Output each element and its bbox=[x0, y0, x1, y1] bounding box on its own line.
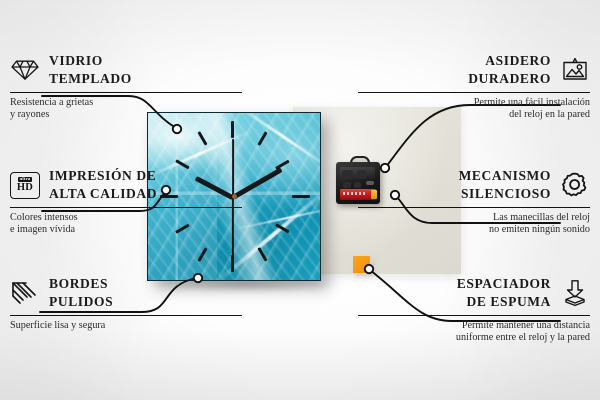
hour-tick bbox=[231, 121, 234, 138]
hour-tick bbox=[292, 195, 310, 198]
feature-bordes-pulidos: BORDES PULIDOS Superficie lisa y segura bbox=[10, 275, 242, 332]
feature-title-line1: ESPACIADOR bbox=[457, 276, 551, 291]
feature-rule bbox=[10, 315, 242, 316]
feature-subtitle-line1: Permite mantener una distancia bbox=[462, 320, 590, 331]
feature-title-line2: DURADERO bbox=[468, 71, 551, 86]
feature-rule bbox=[10, 92, 242, 93]
feature-rule bbox=[358, 92, 590, 93]
feature-heading: BORDES PULIDOS bbox=[10, 275, 242, 311]
feature-title: BORDES PULIDOS bbox=[49, 275, 113, 311]
feature-heading: MECANISMO SILENCIOSO bbox=[358, 167, 590, 203]
feature-subtitle-line1: Resistencia a grietas bbox=[10, 97, 93, 108]
feature-subtitle-line2: e imagen vívida bbox=[10, 224, 75, 235]
feature-rule bbox=[10, 207, 242, 208]
feature-rule bbox=[358, 315, 590, 316]
feature-subtitle-line2: y rayones bbox=[10, 109, 49, 120]
press-down-arrow-icon bbox=[560, 278, 590, 308]
feature-subtitle: Resistencia a grietas y rayones bbox=[10, 97, 242, 121]
feature-subtitle: Las manecillas del reloj no emiten ningú… bbox=[358, 212, 590, 236]
feature-title: ASIDERO DURADERO bbox=[468, 52, 551, 88]
gear-icon bbox=[560, 170, 590, 200]
feature-title: ESPACIADOR DE ESPUMA bbox=[457, 275, 551, 311]
feature-title-line2: TEMPLADO bbox=[49, 71, 132, 86]
feature-espaciador-de-espuma: ESPACIADOR DE ESPUMA Permite mantener un… bbox=[358, 275, 590, 344]
feature-title-line2: DE ESPUMA bbox=[466, 294, 551, 309]
ultra-hd-large-label: HD bbox=[17, 183, 33, 194]
infographic-canvas: VIDRIO TEMPLADO Resistencia a grietas y … bbox=[0, 0, 600, 400]
feature-subtitle-line2: no emiten ningún sonido bbox=[489, 224, 590, 235]
feature-title: IMPRESIÓN DE ALTA CALIDAD bbox=[49, 167, 157, 203]
feature-title-line1: IMPRESIÓN DE bbox=[49, 168, 156, 183]
feature-heading: ESPACIADOR DE ESPUMA bbox=[358, 275, 590, 311]
feature-title: MECANISMO SILENCIOSO bbox=[459, 167, 551, 203]
feature-heading: ultra HD IMPRESIÓN DE ALTA CALIDAD bbox=[10, 167, 242, 203]
feature-title-line1: VIDRIO bbox=[49, 53, 103, 68]
feature-subtitle-line1: Permite una fácil instalación bbox=[474, 97, 590, 108]
feature-title-line1: ASIDERO bbox=[485, 53, 551, 68]
feature-subtitle: Permite una fácil instalación del reloj … bbox=[358, 97, 590, 121]
feature-title-line2: ALTA CALIDAD bbox=[49, 186, 157, 201]
feature-impresion-alta-calidad: ultra HD IMPRESIÓN DE ALTA CALIDAD Color… bbox=[10, 167, 242, 236]
feature-title-line2: PULIDOS bbox=[49, 294, 113, 309]
diamond-icon bbox=[10, 55, 40, 85]
feature-subtitle: Superficie lisa y segura bbox=[10, 320, 242, 332]
feature-subtitle-line1: Las manecillas del reloj bbox=[493, 212, 590, 223]
feature-mecanismo-silencioso: MECANISMO SILENCIOSO Las manecillas del … bbox=[358, 167, 590, 236]
feature-title-line2: SILENCIOSO bbox=[461, 186, 551, 201]
feature-asidero-duradero: ASIDERO DURADERO Permite una fácil insta… bbox=[358, 52, 590, 121]
ultra-hd-icon: ultra HD bbox=[10, 170, 40, 200]
feature-subtitle: Permite mantener una distancia uniforme … bbox=[358, 320, 590, 344]
feature-title-line1: MECANISMO bbox=[459, 168, 551, 183]
feature-heading: VIDRIO TEMPLADO bbox=[10, 52, 242, 88]
feature-vidrio-templado: VIDRIO TEMPLADO Resistencia a grietas y … bbox=[10, 52, 242, 121]
feature-subtitle-line2: uniforme entre el reloj y la pared bbox=[456, 332, 590, 343]
feature-rule bbox=[358, 207, 590, 208]
feature-heading: ASIDERO DURADERO bbox=[358, 52, 590, 88]
feature-title-line1: BORDES bbox=[49, 276, 108, 291]
foam-spacer bbox=[353, 256, 370, 273]
framed-picture-icon bbox=[560, 55, 590, 85]
feature-subtitle-line1: Colores intensos bbox=[10, 212, 78, 223]
feature-subtitle: Colores intensos e imagen vívida bbox=[10, 212, 242, 236]
feature-subtitle-line1: Superficie lisa y segura bbox=[10, 320, 105, 331]
feature-subtitle-line2: del reloj en la pared bbox=[509, 109, 590, 120]
polished-edges-icon bbox=[10, 278, 40, 308]
feature-title: VIDRIO TEMPLADO bbox=[49, 52, 132, 88]
